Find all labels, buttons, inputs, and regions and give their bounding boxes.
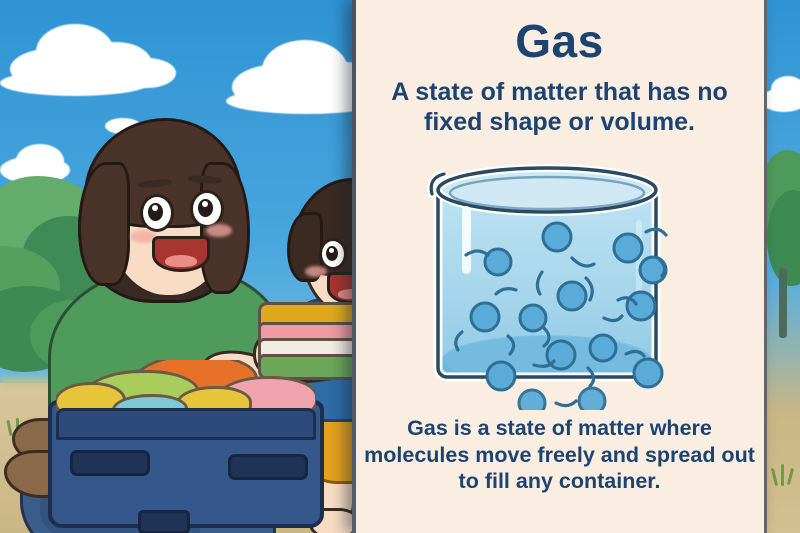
suitcase-lip [56,408,316,440]
beaker-diagram [420,160,690,410]
suitcase-foot [138,510,190,533]
woman-eye [190,190,224,228]
background-strip-right [767,0,800,533]
card-caption: Gas is a state of matter where molecules… [362,415,757,495]
suitcase-handle [228,454,308,480]
woman-eye [140,194,174,232]
infographic-card: Gas A state of matter that has no fixed … [0,0,800,533]
woman-mouth [152,236,210,272]
suitcase [48,400,324,528]
woman-hair-side [78,162,130,286]
suitcase-handle [70,450,150,476]
info-card: Gas A state of matter that has no fixed … [352,0,767,533]
boy-eye [319,238,347,270]
card-subtitle: A state of matter that has no fixed shap… [370,78,749,137]
card-title: Gas [352,14,767,68]
beaker-svg [420,160,690,410]
